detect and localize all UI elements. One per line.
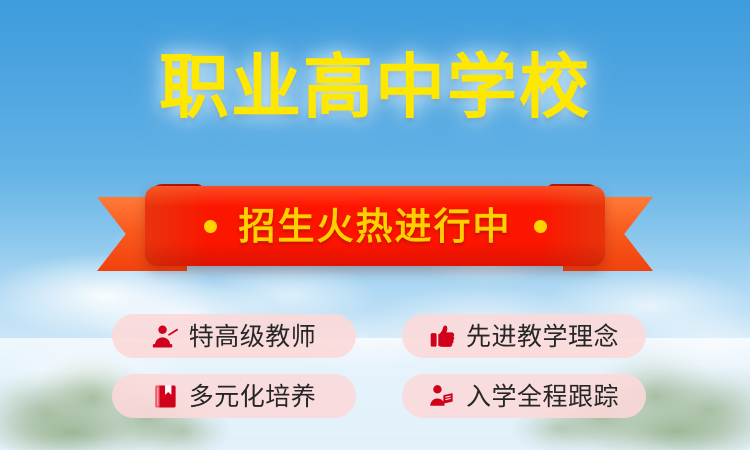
teacher-icon — [152, 323, 179, 350]
ribbon-dot-right-icon — [534, 220, 547, 233]
promo-banner: 职业高中学校 招生火热进行中 特高级教师 — [0, 0, 750, 450]
ribbon-label: 招生火热进行中 — [239, 208, 512, 245]
feature-label: 特高级教师 — [189, 324, 317, 349]
feature-pill-enrollment-tracking[interactable]: 入学全程跟踪 — [402, 374, 646, 418]
feature-label: 入学全程跟踪 — [466, 384, 619, 409]
ribbon-dot-left-icon — [204, 220, 217, 233]
person-reading-icon — [429, 383, 456, 410]
enrollment-ribbon: 招生火热进行中 — [95, 176, 655, 276]
feature-pill-teacher[interactable]: 特高级教师 — [112, 314, 356, 358]
feature-pill-teaching-philosophy[interactable]: 先进教学理念 — [402, 314, 646, 358]
page-title: 职业高中学校 — [159, 52, 591, 122]
ribbon-body: 招生火热进行中 — [145, 186, 605, 266]
feature-pill-diversified-training[interactable]: 多元化培养 — [112, 374, 356, 418]
feature-label: 先进教学理念 — [466, 324, 619, 349]
thumbs-up-icon — [429, 323, 456, 350]
feature-label: 多元化培养 — [189, 384, 317, 409]
title-area: 职业高中学校 — [0, 52, 750, 122]
book-icon — [152, 383, 179, 410]
feature-list: 特高级教师 先进教学理念 多元化培养 — [112, 314, 646, 418]
